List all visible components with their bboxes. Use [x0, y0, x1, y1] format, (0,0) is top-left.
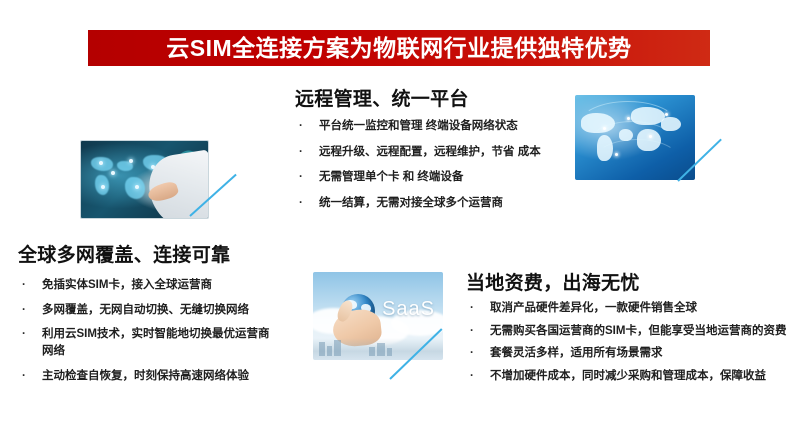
list-item: · 不增加硬件成本，同时减少采购和管理成本，保障收益: [466, 368, 796, 385]
bullet-marker: ·: [470, 368, 474, 385]
list-item: · 远程升级、远程配置，远程维护，节省 成本: [295, 144, 555, 161]
page-title: 云SIM全连接方案为物联网行业提供独特优势: [166, 37, 631, 60]
list-item: · 统一结算，无需对接全球多个运营商: [295, 195, 555, 212]
network-node: [627, 117, 630, 120]
bullet-marker: ·: [22, 368, 26, 385]
bullet-list-local-tariff: · 取消产品硬件差异化，一款硬件销售全球 · 无需购买各国运营商的SIM卡，但能…: [466, 300, 796, 391]
bullet-marker: ·: [470, 323, 474, 340]
building-shape: [387, 348, 392, 356]
list-item: · 取消产品硬件差异化，一款硬件销售全球: [466, 300, 796, 317]
network-node: [649, 135, 652, 138]
list-item: · 平台统一监控和管理 终端设备网络状态: [295, 118, 555, 135]
list-item-text: 统一结算，无需对接全球多个运营商: [319, 197, 503, 209]
network-node: [603, 127, 606, 130]
list-item-text: 不增加硬件成本，同时减少采购和管理成本，保障收益: [490, 370, 766, 382]
network-node: [111, 171, 115, 175]
bullet-marker: ·: [22, 277, 26, 294]
network-node: [99, 161, 103, 165]
list-item-text: 远程升级、远程配置，远程维护，节省 成本: [319, 146, 541, 158]
list-item: · 免插实体SIM卡，接入全球运营商: [18, 277, 280, 294]
list-item-text: 平台统一监控和管理 终端设备网络状态: [319, 120, 518, 132]
list-item: · 套餐灵活多样，适用所有场景需求: [466, 345, 796, 362]
bullet-marker: ·: [470, 345, 474, 362]
bullet-marker: ·: [299, 118, 303, 135]
heading-local-tariff: 当地资费，出海无忧: [466, 268, 640, 295]
building-shape: [319, 342, 325, 356]
list-item: · 多网覆盖，无网自动切换、无缝切换网络: [18, 302, 280, 319]
slide-canvas: 云SIM全连接方案为物联网行业提供独特优势: [0, 0, 805, 440]
list-item-text: 主动检查自恢复，时刻保持高速网络体验: [42, 370, 249, 382]
saas-label: SaaS: [382, 298, 435, 321]
network-node: [135, 185, 139, 189]
list-item-text: 免插实体SIM卡，接入全球运营商: [42, 279, 212, 291]
network-node: [101, 185, 105, 189]
list-item: · 无需购买各国运营商的SIM卡，但能享受当地运营商的资费: [466, 323, 796, 340]
heading-global-coverage: 全球多网覆盖、连接可靠: [18, 240, 230, 267]
bullet-list-global-coverage: · 免插实体SIM卡，接入全球运营商 · 多网覆盖，无网自动切换、无缝切换网络 …: [18, 277, 280, 392]
building-shape: [327, 346, 332, 356]
global-map-photo: [575, 95, 695, 180]
connection-arc: [595, 139, 679, 179]
network-touch-photo: [80, 140, 209, 219]
title-banner: 云SIM全连接方案为物联网行业提供独特优势: [88, 30, 710, 66]
bullet-list-remote-management: · 平台统一监控和管理 终端设备网络状态 · 远程升级、远程配置，远程维护，节省…: [295, 118, 555, 221]
bullet-marker: ·: [22, 326, 26, 343]
building-shape: [334, 340, 341, 356]
list-item-text: 利用云SIM技术，实时智能地切换最优运营商网络: [42, 328, 269, 357]
bullet-marker: ·: [299, 144, 303, 161]
network-node: [615, 153, 618, 156]
list-item-text: 取消产品硬件差异化，一款硬件销售全球: [490, 302, 697, 314]
bullet-marker: ·: [299, 169, 303, 186]
building-shape: [369, 347, 375, 356]
list-item-text: 无需管理单个卡 和 终端设备: [319, 171, 463, 183]
list-item: · 利用云SIM技术，实时智能地切换最优运营商网络: [18, 326, 280, 359]
list-item-text: 套餐灵活多样，适用所有场景需求: [490, 347, 663, 359]
list-item: · 主动检查自恢复，时刻保持高速网络体验: [18, 368, 280, 385]
bullet-marker: ·: [299, 195, 303, 212]
heading-remote-management: 远程管理、统一平台: [295, 84, 469, 111]
list-item-text: 无需购买各国运营商的SIM卡，但能享受当地运营商的资费: [490, 325, 786, 337]
list-item-text: 多网覆盖，无网自动切换、无缝切换网络: [42, 304, 249, 316]
network-node: [665, 113, 668, 116]
list-item: · 无需管理单个卡 和 终端设备: [295, 169, 555, 186]
bullet-marker: ·: [22, 302, 26, 319]
network-node: [129, 159, 133, 163]
bullet-marker: ·: [470, 300, 474, 317]
building-shape: [377, 343, 385, 356]
